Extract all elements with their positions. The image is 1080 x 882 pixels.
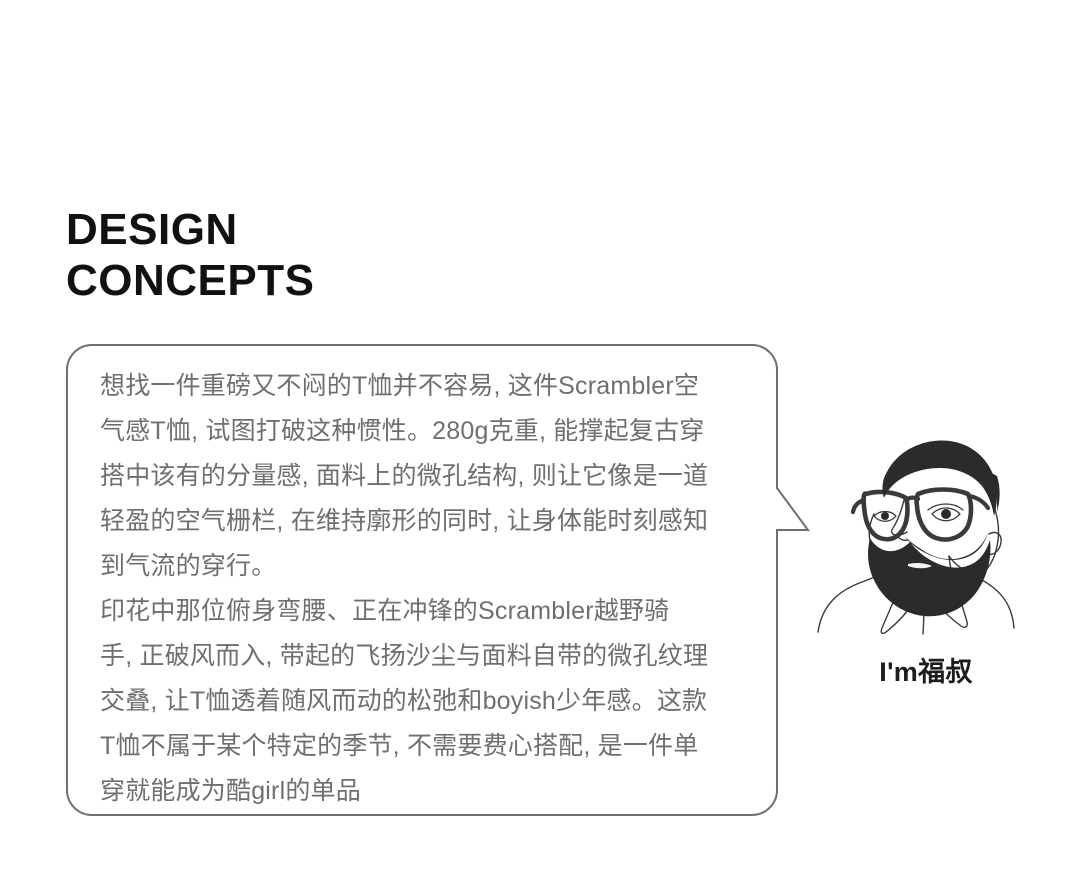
page-title-line-1: DESIGN — [66, 204, 314, 255]
avatar-block: I'm福叔 — [800, 418, 1052, 688]
left-pupil — [881, 512, 889, 520]
bubble-p2-line-4: T恤不属于某个特定的季节, 不需要费心搭配, 是一件单 — [100, 724, 760, 769]
page-title-line-2: CONCEPTS — [66, 255, 314, 306]
bubble-p1-line-3: 搭中该有的分量感, 面料上的微孔结构, 则让它像是一道 — [100, 454, 760, 499]
bubble-p1-line-4: 轻盈的空气栅栏, 在维持廓形的同时, 让身体能时刻感知 — [100, 499, 760, 544]
bubble-body-text: 想找一件重磅又不闷的T恤并不容易, 这件Scrambler空 气感T恤, 试图打… — [100, 364, 760, 814]
right-pupil — [941, 509, 951, 519]
bubble-paragraph-2: 印花中那位俯身弯腰、正在冲锋的Scrambler越野骑 手, 正破风而入, 带起… — [100, 589, 760, 814]
glasses-bridge — [906, 498, 918, 500]
bubble-p1-line-2: 气感T恤, 试图打破这种惯性。280g克重, 能撑起复古穿 — [100, 409, 760, 454]
speech-bubble: 想找一件重磅又不闷的T恤并不容易, 这件Scrambler空 气感T恤, 试图打… — [66, 344, 778, 816]
bubble-p2-line-1: 印花中那位俯身弯腰、正在冲锋的Scrambler越野骑 — [100, 589, 760, 634]
bubble-p2-line-3: 交叠, 让T恤透着随风而动的松弛和boyish少年感。这款 — [100, 679, 760, 724]
bearded-man-portrait-icon — [800, 418, 1052, 646]
bubble-p1-line-1: 想找一件重磅又不闷的T恤并不容易, 这件Scrambler空 — [100, 364, 760, 409]
bubble-paragraph-1: 想找一件重磅又不闷的T恤并不容易, 这件Scrambler空 气感T恤, 试图打… — [100, 364, 760, 589]
bubble-p2-line-5: 穿就能成为酷girl的单品 — [100, 769, 760, 814]
bubble-p1-line-5: 到气流的穿行。 — [100, 544, 760, 589]
page-title: DESIGN CONCEPTS — [66, 204, 314, 306]
page-root: DESIGN CONCEPTS 想找一件重磅又不闷的T恤并不容易, 这件Scra… — [0, 0, 1080, 882]
beard-shape — [868, 538, 991, 616]
avatar-caption: I'm福叔 — [800, 650, 1052, 689]
bubble-p2-line-2: 手, 正破风而入, 带起的飞扬沙尘与面料自带的微孔纹理 — [100, 634, 760, 679]
